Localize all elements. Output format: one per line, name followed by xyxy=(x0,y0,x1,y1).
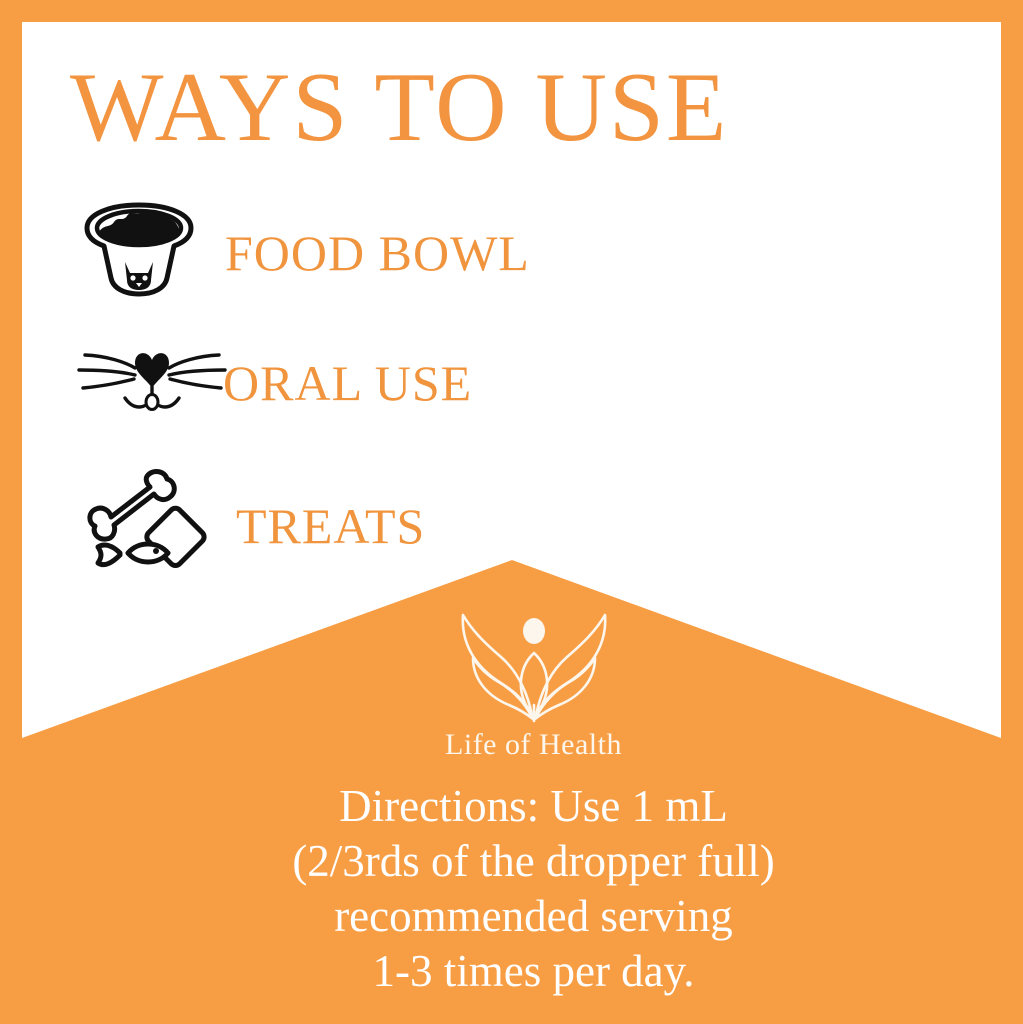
winged-figure-logo-icon xyxy=(22,605,1001,728)
usage-method-food-bowl: FOOD BOWL xyxy=(77,200,530,305)
brand-logo-block: Life of Health xyxy=(22,605,1001,760)
cat-whiskers-nose-icon xyxy=(77,342,227,423)
poster-inner-panel: WAYS TO USE xyxy=(22,22,1001,1002)
page-title: WAYS TO USE xyxy=(70,58,728,157)
usage-method-label: ORAL USE xyxy=(223,358,472,408)
directions-line: (2/3rds of the dropper full) xyxy=(22,834,1001,889)
directions-line: 1-3 times per day. xyxy=(22,944,1001,999)
brand-wordmark: Life of Health xyxy=(22,730,1001,760)
bone-biscuit-fish-treats-icon xyxy=(84,467,212,584)
directions-text: Directions: Use 1 mL (2/3rds of the drop… xyxy=(22,779,1001,999)
directions-line: Directions: Use 1 mL xyxy=(22,779,1001,834)
ways-to-use-poster: WAYS TO USE xyxy=(0,0,1023,1024)
usage-method-treats: TREATS xyxy=(84,467,425,584)
usage-method-label: FOOD BOWL xyxy=(225,228,530,278)
usage-method-oral-use: ORAL USE xyxy=(77,342,472,423)
usage-method-label: TREATS xyxy=(236,501,425,551)
pet-food-bowl-icon xyxy=(77,200,201,305)
directions-line: recommended serving xyxy=(22,889,1001,944)
